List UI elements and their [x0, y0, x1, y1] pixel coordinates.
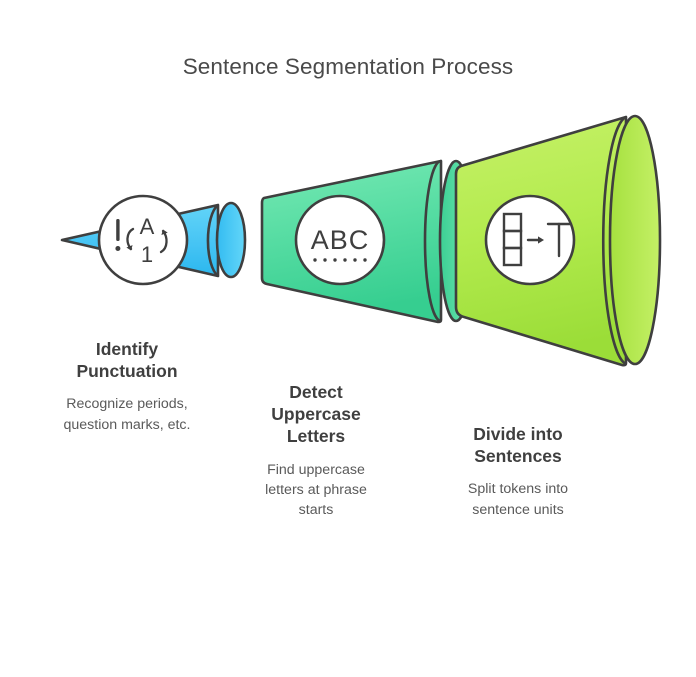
stage-1-title: Identify Punctuation: [33, 338, 221, 382]
stage-3-title: Divide into Sentences: [423, 423, 613, 467]
stage-1-icon-badge[interactable]: A 1: [99, 196, 187, 284]
stage-2-title: Detect Uppercase Letters: [232, 381, 400, 448]
svg-text:1: 1: [141, 242, 153, 267]
stage-caption-1: Identify Punctuation Recognize periods, …: [33, 338, 221, 435]
sentence-segmentation-diagram: Sentence Segmentation Process: [0, 0, 696, 677]
stage-1-icon-circle: [99, 196, 187, 284]
svg-text:ABC: ABC: [311, 225, 370, 255]
stage-1-description: Recognize periods, question marks, etc.: [33, 394, 221, 434]
funnel-segment-3-cap: [610, 116, 660, 364]
stage-2-description: Find uppercase letters at phrase starts: [232, 460, 400, 520]
funnel-segment-1-cap: [217, 203, 245, 277]
svg-text:A: A: [140, 214, 155, 239]
stage-3-icon-badge[interactable]: [486, 196, 574, 284]
stage-3-description: Split tokens into sentence units: [423, 479, 613, 519]
stage-2-icon-badge[interactable]: ABC: [296, 196, 384, 284]
stage-caption-3: Divide into Sentences Split tokens into …: [423, 423, 613, 520]
stage-caption-2: Detect Uppercase Letters Find uppercase …: [232, 381, 400, 520]
